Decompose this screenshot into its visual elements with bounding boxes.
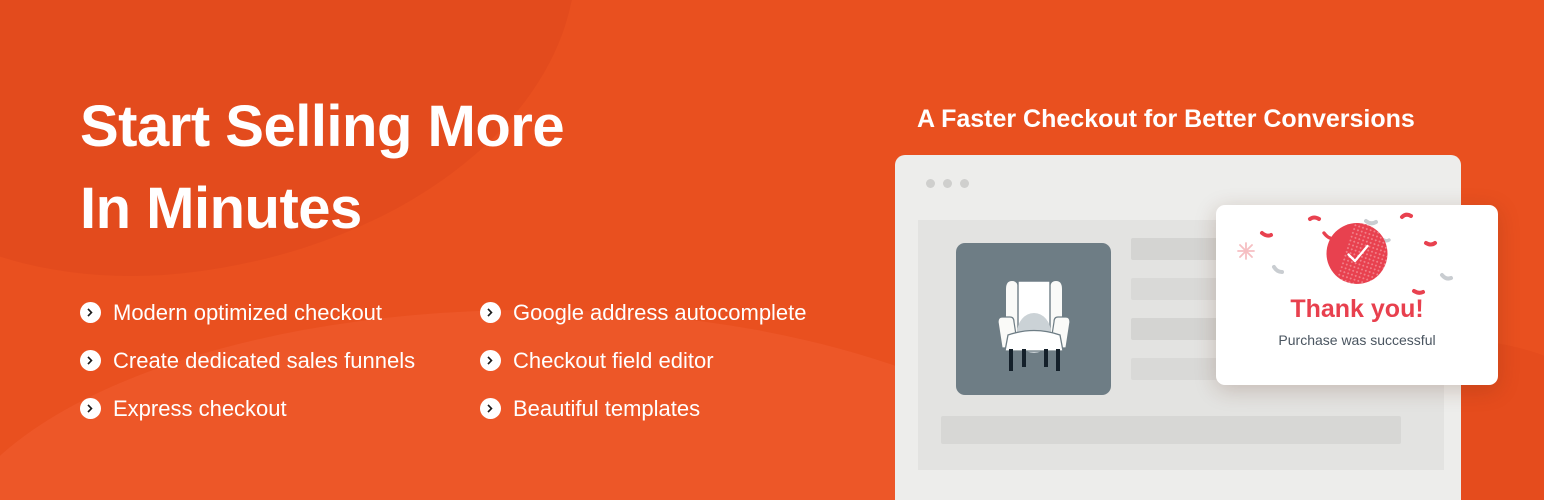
list-item: Google address autocomplete [480,289,880,337]
product-image [956,243,1111,395]
thank-you-card: Thank you! Purchase was successful [1216,205,1498,385]
armchair-illustration [978,263,1090,375]
mockup-heading: A Faster Checkout for Better Conversions [917,105,1415,134]
thank-you-subtitle: Purchase was successful [1216,332,1498,348]
list-item: Modern optimized checkout [80,289,480,337]
browser-dot-icon [943,179,952,188]
chevron-right-icon [80,398,101,419]
chevron-right-icon [480,398,501,419]
list-item-label: Modern optimized checkout [113,302,382,324]
list-item-label: Beautiful templates [513,398,700,420]
sparkle-icon [1238,243,1254,259]
mockup-block: A Faster Checkout for Better Conversions [895,105,1544,500]
feature-list: Modern optimized checkout Create dedicat… [80,289,880,433]
list-item-label: Google address autocomplete [513,302,807,324]
chevron-right-icon [480,350,501,371]
list-item-label: Create dedicated sales funnels [113,350,415,372]
feature-column-right: Google address autocomplete Checkout fie… [480,289,880,433]
thank-you-title: Thank you! [1216,295,1498,324]
chevron-right-icon [80,350,101,371]
browser-dot-icon [926,179,935,188]
list-item: Checkout field editor [480,337,880,385]
promo-banner: Start Selling More In Minutes Modern opt… [0,0,1544,500]
feature-column-left: Modern optimized checkout Create dedicat… [80,289,480,433]
check-mark-icon [1340,237,1374,271]
chevron-right-icon [480,302,501,323]
list-item-label: Checkout field editor [513,350,714,372]
headline-line-2: In Minutes [80,168,880,250]
chevron-right-icon [80,302,101,323]
list-item: Create dedicated sales funnels [80,337,480,385]
list-item-label: Express checkout [113,398,287,420]
hero-text-block: Start Selling More In Minutes Modern opt… [80,86,880,433]
headline-line-1: Start Selling More [80,86,880,168]
check-circle-icon [1327,223,1388,284]
browser-traffic-lights [926,179,969,188]
page-title: Start Selling More In Minutes [80,86,880,251]
browser-dot-icon [960,179,969,188]
placeholder-bar [941,416,1401,444]
list-item: Beautiful templates [480,385,880,433]
list-item: Express checkout [80,385,480,433]
